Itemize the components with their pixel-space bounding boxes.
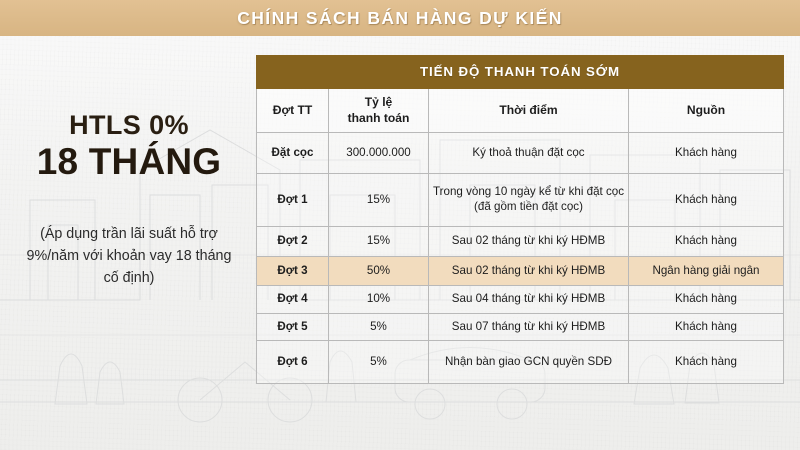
column-header-rate-line2: thanh toán xyxy=(348,111,410,125)
table-row: Đợt 4 10% Sau 04 tháng từ khi ký HĐMB Kh… xyxy=(257,286,784,314)
cell-time: Sau 07 tháng từ khi ký HĐMB xyxy=(429,314,629,341)
payment-schedule-table-container: TIẾN ĐỘ THANH TOÁN SỚM Đợt TT Tỷ lệ than… xyxy=(256,55,783,384)
cell-stage: Đợt 3 xyxy=(257,257,329,286)
column-header-stage: Đợt TT xyxy=(257,89,329,133)
cell-time: Ký thoả thuận đặt cọc xyxy=(429,133,629,174)
column-header-rate: Tỷ lệ thanh toán xyxy=(329,89,429,133)
promo-footnote: (Áp dụng trần lãi suất hỗ trợ 9%/năm với… xyxy=(0,223,258,289)
table-band-row: TIẾN ĐỘ THANH TOÁN SỚM xyxy=(257,56,784,89)
table-body: Đặt cọc 300.000.000 Ký thoả thuận đặt cọ… xyxy=(257,133,784,384)
table-row-highlighted: Đợt 3 50% Sau 02 tháng từ khi ký HĐMB Ng… xyxy=(257,257,784,286)
cell-rate: 15% xyxy=(329,174,429,227)
cell-source: Khách hàng xyxy=(629,286,784,314)
cell-rate: 10% xyxy=(329,286,429,314)
cell-stage: Đợt 5 xyxy=(257,314,329,341)
cell-stage: Đợt 1 xyxy=(257,174,329,227)
table-row: Đặt cọc 300.000.000 Ký thoả thuận đặt cọ… xyxy=(257,133,784,174)
cell-source: Ngân hàng giải ngân xyxy=(629,257,784,286)
table-row: Đợt 2 15% Sau 02 tháng từ khi ký HĐMB Kh… xyxy=(257,227,784,257)
table-header-row: Đợt TT Tỷ lệ thanh toán Thời điểm Nguồn xyxy=(257,89,784,133)
column-header-source: Nguồn xyxy=(629,89,784,133)
table-band-title: TIẾN ĐỘ THANH TOÁN SỚM xyxy=(257,56,784,89)
cell-rate: 15% xyxy=(329,227,429,257)
cell-stage: Đặt cọc xyxy=(257,133,329,174)
cell-rate: 5% xyxy=(329,314,429,341)
promo-headline-primary: HTLS 0% xyxy=(0,110,258,140)
cell-source: Khách hàng xyxy=(629,227,784,257)
cell-rate: 50% xyxy=(329,257,429,286)
column-header-rate-line1: Tỷ lệ xyxy=(365,95,393,109)
cell-source: Khách hàng xyxy=(629,314,784,341)
slide-header-bar: CHÍNH SÁCH BÁN HÀNG DỰ KIẾN xyxy=(0,0,800,36)
cell-source: Khách hàng xyxy=(629,174,784,227)
cell-time: Sau 02 tháng từ khi ký HĐMB xyxy=(429,257,629,286)
table-row: Đợt 1 15% Trong vòng 10 ngày kể từ khi đ… xyxy=(257,174,784,227)
table-row: Đợt 5 5% Sau 07 tháng từ khi ký HĐMB Khá… xyxy=(257,314,784,341)
promo-panel: HTLS 0% 18 THÁNG (Áp dụng trần lãi suất … xyxy=(0,110,258,289)
table-row: Đợt 6 5% Nhận bàn giao GCN quyền SDĐ Khá… xyxy=(257,341,784,384)
cell-stage: Đợt 2 xyxy=(257,227,329,257)
cell-stage: Đợt 6 xyxy=(257,341,329,384)
column-header-time: Thời điểm xyxy=(429,89,629,133)
payment-schedule-table: TIẾN ĐỘ THANH TOÁN SỚM Đợt TT Tỷ lệ than… xyxy=(256,55,784,384)
cell-stage: Đợt 4 xyxy=(257,286,329,314)
promo-headline-secondary: 18 THÁNG xyxy=(0,142,258,183)
cell-time: Sau 02 tháng từ khi ký HĐMB xyxy=(429,227,629,257)
cell-rate: 300.000.000 xyxy=(329,133,429,174)
cell-source: Khách hàng xyxy=(629,133,784,174)
cell-time: Nhận bàn giao GCN quyền SDĐ xyxy=(429,341,629,384)
cell-time: Sau 04 tháng từ khi ký HĐMB xyxy=(429,286,629,314)
cell-rate: 5% xyxy=(329,341,429,384)
cell-source: Khách hàng xyxy=(629,341,784,384)
page-title: CHÍNH SÁCH BÁN HÀNG DỰ KIẾN xyxy=(237,8,563,29)
slide-canvas: CHÍNH SÁCH BÁN HÀNG DỰ KIẾN HTLS 0% 18 T… xyxy=(0,0,800,450)
cell-time: Trong vòng 10 ngày kể từ khi đặt cọc (đã… xyxy=(429,174,629,227)
